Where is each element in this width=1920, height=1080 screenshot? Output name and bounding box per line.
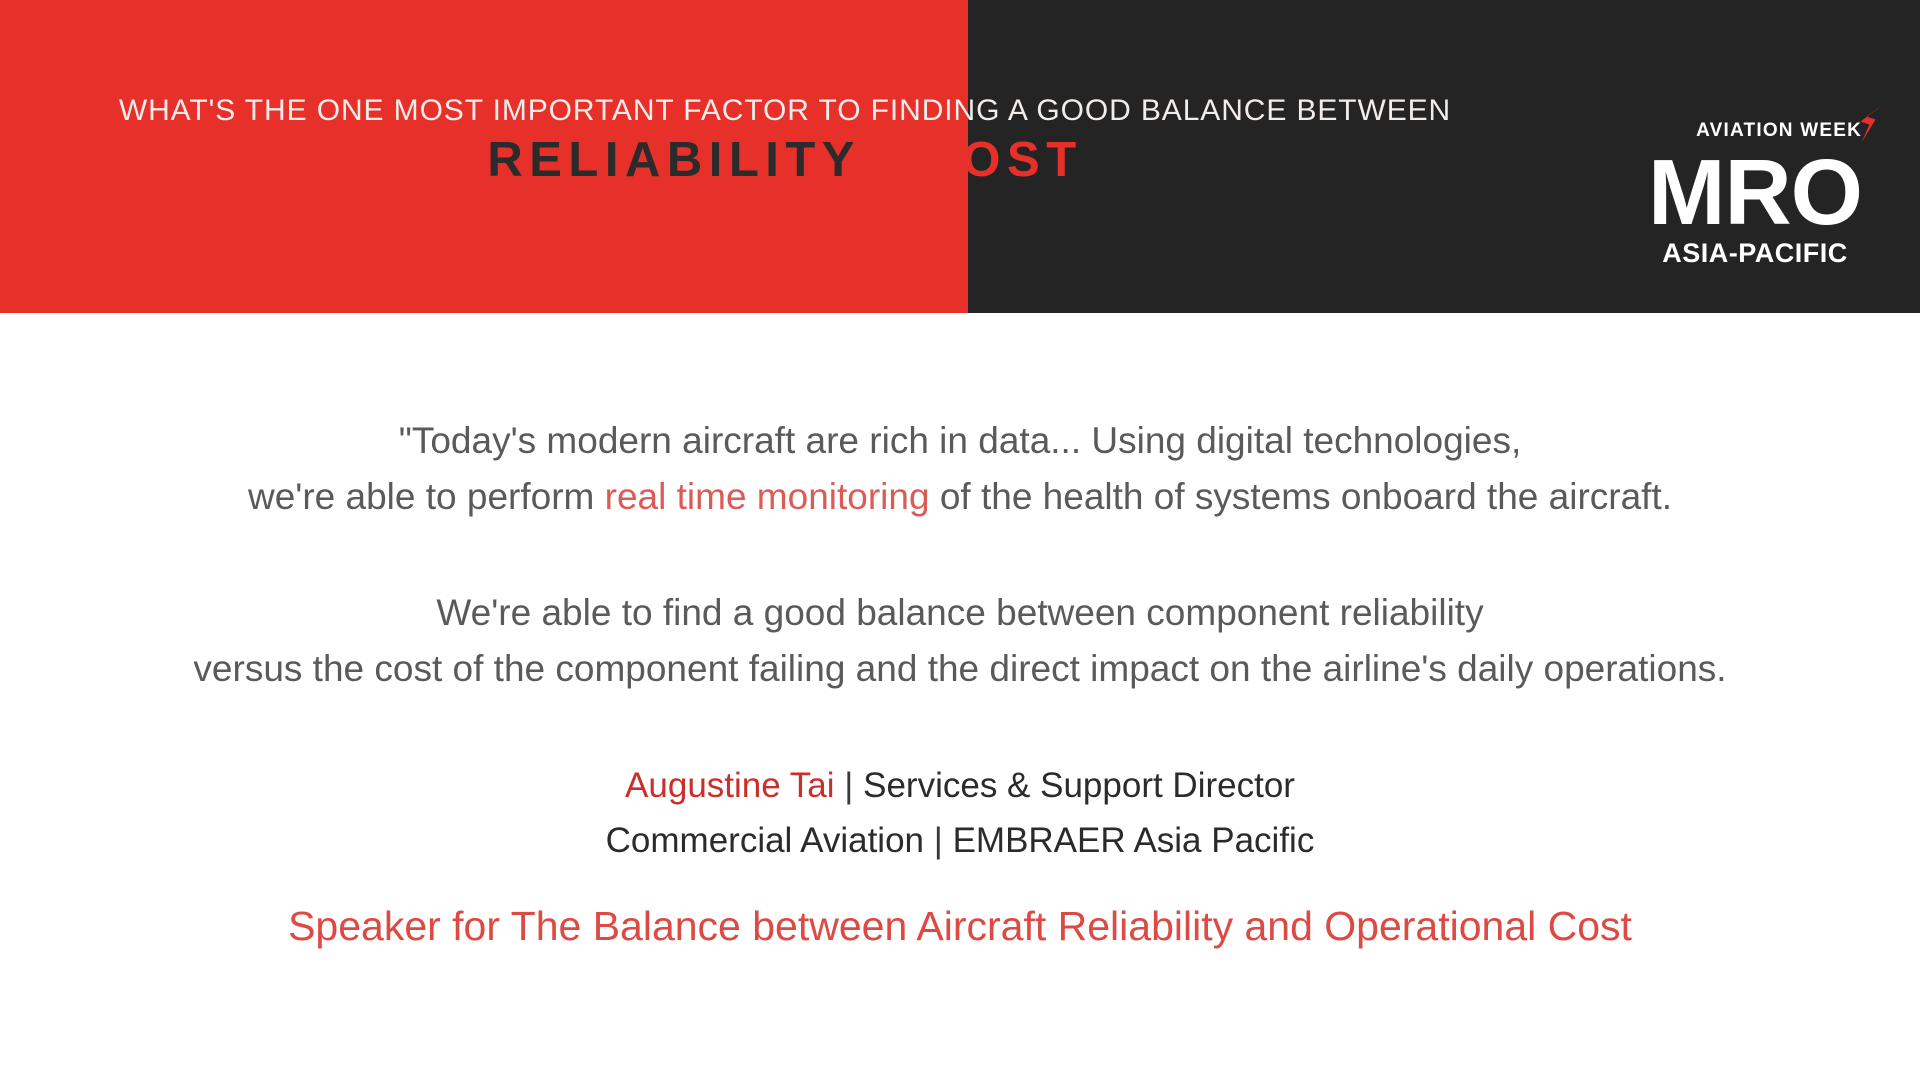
attribution-line-2: Commercial Aviation | EMBRAER Asia Pacif… xyxy=(0,813,1920,868)
speaker-company: EMBRAER Asia Pacific xyxy=(953,821,1315,860)
speaker-attribution: Augustine Tai | Services & Support Direc… xyxy=(0,758,1920,868)
slide-root: WHAT'S THE ONE MOST IMPORTANT FACTOR TO … xyxy=(0,0,1920,1080)
quote-paragraph-1: "Today's modern aircraft are rich in dat… xyxy=(0,413,1920,525)
mro-asia-pacific-logo: AVIATION WEEK MRO ASIA-PACIFIC xyxy=(1630,118,1880,278)
speaker-title: Services & Support Director xyxy=(863,766,1295,805)
aviation-week-swoosh-icon xyxy=(1842,104,1884,144)
body-content: "Today's modern aircraft are rich in dat… xyxy=(0,313,1920,1080)
headline-separator: | xyxy=(860,133,920,187)
logo-mro-text: MRO xyxy=(1630,150,1880,234)
quote-p2-line-1: We're able to find a good balance betwee… xyxy=(0,585,1920,641)
attribution-separator-1: | xyxy=(835,766,864,805)
attribution-line-1: Augustine Tai | Services & Support Direc… xyxy=(0,758,1920,813)
quote-p1-line2-before: we're able to perform xyxy=(248,476,605,517)
session-speaker-for-line: Speaker for The Balance between Aircraft… xyxy=(0,896,1920,956)
speaker-division: Commercial Aviation xyxy=(606,821,924,860)
attribution-separator-2: | xyxy=(924,821,953,860)
headline-word-cost: COST xyxy=(921,133,1083,187)
header-headline: RELIABILITY | COST xyxy=(0,136,1570,185)
quote-paragraph-2: We're able to find a good balance betwee… xyxy=(0,585,1920,697)
logo-aviation-week-text: AVIATION WEEK xyxy=(1696,120,1862,141)
quote-p1-line2-after: of the health of systems onboard the air… xyxy=(930,476,1672,517)
logo-region-text: ASIA-PACIFIC xyxy=(1630,236,1880,270)
quote-p2-line-2: versus the cost of the component failing… xyxy=(0,641,1920,697)
quote-highlight-real-time-monitoring: real time monitoring xyxy=(605,476,930,517)
speaker-name: Augustine Tai xyxy=(625,766,835,805)
quote-p1-line-1: "Today's modern aircraft are rich in dat… xyxy=(0,413,1920,469)
header-kicker: WHAT'S THE ONE MOST IMPORTANT FACTOR TO … xyxy=(0,96,1570,126)
headline-word-reliability: RELIABILITY xyxy=(487,133,860,187)
logo-aviation-week-row: AVIATION WEEK xyxy=(1630,118,1880,148)
quote-p1-line-2: we're able to perform real time monitori… xyxy=(0,469,1920,525)
